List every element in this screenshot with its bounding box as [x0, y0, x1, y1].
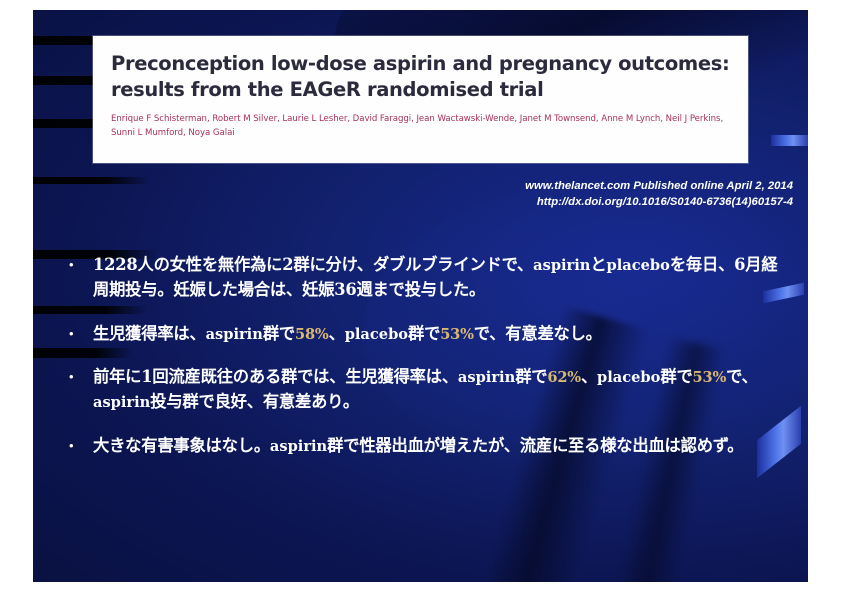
- article-title-line-2: results from the EAGeR randomised trial: [111, 77, 730, 103]
- slide-page: Preconception low-dose aspirin and pregn…: [0, 0, 841, 595]
- bullet-text-segment: 1228人の女性を無作為に2群に分け、ダブルブラインドで、: [93, 255, 533, 274]
- bullet-text: 大きな有害事象はなし。aspirin群で性器出血が増えたが、流産に至る様な出血は…: [93, 434, 784, 459]
- bullet-text-segment: 群で性器出血が増えたが、流産に至る様な出血は認めず。: [327, 436, 743, 455]
- bullet-list: •1228人の女性を無作為に2群に分け、ダブルブラインドで、aspirinとpl…: [69, 253, 784, 478]
- percentage-value: 62%: [547, 369, 581, 386]
- bullet-text-segment: aspirin: [270, 438, 327, 455]
- bullet-text-segment: で、有意差なし。: [474, 324, 602, 343]
- percentage-value: 58%: [295, 326, 329, 343]
- bullet-text: 1228人の女性を無作為に2群に分け、ダブルブラインドで、aspirinとpla…: [93, 253, 784, 303]
- bullet-marker-icon: •: [69, 434, 93, 457]
- article-title-line-1: Preconception low-dose aspirin and pregn…: [111, 51, 730, 77]
- bullet-text: 生児獲得率は、aspirin群で58%、placebo群で53%で、有意差なし。: [93, 322, 784, 347]
- bullet-text-segment: aspirin: [458, 369, 515, 386]
- bullet-text-segment: で、: [726, 367, 758, 386]
- article-authors-line-1: Enrique F Schisterman, Robert M Silver, …: [111, 113, 730, 127]
- bullet-item: •大きな有害事象はなし。aspirin群で性器出血が増えたが、流産に至る様な出血…: [69, 434, 784, 459]
- bullet-text-segment: placebo: [597, 369, 660, 386]
- bullet-text-segment: aspirin: [206, 326, 263, 343]
- bullet-text: 前年に1回流産既往のある群では、生児獲得率は、aspirin群で62%、plac…: [93, 365, 784, 415]
- bullet-marker-icon: •: [69, 365, 93, 388]
- bullet-text-segment: aspirin: [533, 257, 590, 274]
- accent-bar-1: [771, 135, 808, 146]
- bullet-text-segment: 群で: [263, 324, 295, 343]
- bullet-text-segment: と: [590, 255, 606, 274]
- bullet-text-segment: 投与群で良好、有意差あり。: [150, 392, 359, 411]
- bullet-text-segment: 、: [329, 324, 345, 343]
- bullet-marker-icon: •: [69, 322, 93, 345]
- bullet-text-segment: 大きな有害事象はなし。: [93, 436, 270, 455]
- bullet-text-segment: placebo: [345, 326, 408, 343]
- percentage-value: 53%: [693, 369, 727, 386]
- journal-article-card: Preconception low-dose aspirin and pregn…: [93, 36, 748, 163]
- bullet-text-segment: 前年に1回流産既往のある群では、生児獲得率は、: [93, 367, 458, 386]
- article-authors: Enrique F Schisterman, Robert M Silver, …: [111, 113, 730, 140]
- citation-url-line: www.thelancet.com Published online April…: [233, 178, 793, 194]
- citation-doi-line: http://dx.doi.org/10.1016/S0140-6736(14)…: [233, 194, 793, 210]
- bullet-marker-icon: •: [69, 253, 93, 276]
- bullet-item: •生児獲得率は、aspirin群で58%、placebo群で53%で、有意差なし…: [69, 322, 784, 347]
- article-title: Preconception low-dose aspirin and pregn…: [111, 51, 730, 102]
- bullet-text-segment: aspirin: [93, 394, 150, 411]
- bullet-item: •1228人の女性を無作為に2群に分け、ダブルブラインドで、aspirinとpl…: [69, 253, 784, 303]
- left-stripe-4: [33, 177, 151, 184]
- bullet-text-segment: 群で: [515, 367, 547, 386]
- presentation-slide: Preconception low-dose aspirin and pregn…: [33, 10, 808, 582]
- bullet-text-segment: 群で: [660, 367, 692, 386]
- bullet-text-segment: 、: [581, 367, 597, 386]
- bullet-text-segment: 群で: [408, 324, 440, 343]
- percentage-value: 53%: [440, 326, 474, 343]
- citation-block: www.thelancet.com Published online April…: [233, 178, 793, 210]
- article-authors-line-2: Sunni L Mumford, Noya Galai: [111, 127, 730, 141]
- bullet-item: •前年に1回流産既往のある群では、生児獲得率は、aspirin群で62%、pla…: [69, 365, 784, 415]
- bullet-text-segment: 生児獲得率は、: [93, 324, 206, 343]
- bullet-text-segment: placebo: [607, 257, 670, 274]
